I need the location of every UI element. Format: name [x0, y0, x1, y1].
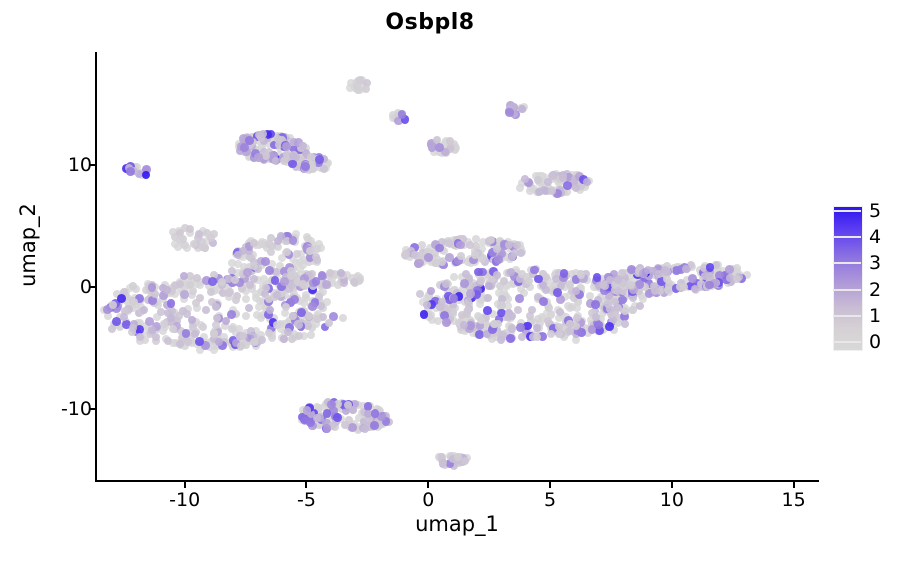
scatter-point: [186, 225, 194, 233]
scatter-point: [534, 275, 543, 284]
scatter-point: [362, 85, 370, 93]
scatter-point: [651, 287, 659, 295]
scatter-point: [313, 414, 321, 422]
scatter-point: [199, 323, 207, 331]
scatter-point: [242, 295, 250, 303]
scatter-point: [323, 409, 332, 418]
scatter-point: [534, 176, 542, 184]
colorbar-tick-mark: [833, 289, 861, 291]
x-tick-mark: [184, 482, 186, 488]
colorbar-gradient: [833, 206, 863, 351]
scatter-point: [733, 275, 741, 283]
scatter-point: [555, 330, 563, 338]
scatter-point: [466, 289, 475, 298]
scatter-point: [477, 277, 485, 285]
scatter-point: [548, 187, 556, 195]
scatter-point: [583, 178, 591, 186]
scatter-point: [282, 303, 290, 311]
scatter-point: [289, 236, 298, 245]
scatter-point: [130, 298, 138, 306]
x-axis-spine: [95, 480, 819, 482]
scatter-point: [207, 288, 215, 296]
scatter-point: [313, 315, 321, 323]
scatter-point: [129, 282, 137, 290]
x-tick-label: 10: [660, 489, 684, 511]
scatter-point: [305, 312, 313, 320]
scatter-point: [614, 287, 622, 295]
scatter-point: [167, 314, 175, 322]
scatter-point: [273, 321, 281, 329]
scatter-point: [411, 251, 419, 259]
x-tick-mark: [427, 482, 429, 488]
scatter-point: [548, 172, 556, 180]
scatter-point: [515, 294, 524, 303]
scatter-point: [460, 279, 469, 288]
scatter-point: [323, 424, 332, 433]
scatter-point: [250, 262, 258, 270]
scatter-point: [237, 342, 245, 350]
scatter-point: [303, 406, 312, 415]
scatter-point: [196, 294, 204, 302]
scatter-point: [483, 306, 492, 315]
colorbar-tick-mark: [833, 210, 861, 212]
scatter-point: [663, 268, 671, 276]
scatter-point: [117, 294, 126, 303]
scatter-point: [442, 318, 451, 327]
scatter-point: [518, 333, 526, 341]
x-tick-mark: [671, 482, 673, 488]
scatter-point: [591, 300, 600, 309]
colorbar-tick-label: 1: [869, 305, 881, 327]
y-tick-label: -10: [61, 398, 92, 420]
colorbar-tick-mark: [833, 341, 861, 343]
scatter-point: [282, 142, 291, 151]
scatter-point: [176, 340, 184, 348]
x-tick-mark: [549, 482, 551, 488]
scatter-point: [280, 335, 288, 343]
scatter-point: [243, 268, 252, 277]
scatter-point: [706, 263, 715, 272]
x-tick-label: 15: [782, 489, 806, 511]
scatter-point: [299, 142, 307, 150]
scatter-point: [300, 299, 308, 307]
scatter-point: [639, 269, 648, 278]
scatter-point: [457, 252, 465, 260]
scatter-point: [247, 327, 255, 335]
scatter-point: [664, 286, 672, 294]
scatter-point: [445, 239, 453, 247]
x-tick-label: -10: [169, 489, 200, 511]
scatter-point: [725, 265, 734, 274]
scatter-point: [265, 295, 273, 303]
scatter-point: [267, 248, 275, 256]
scatter-point: [663, 275, 671, 283]
scatter-point: [435, 143, 444, 152]
scatter-point: [208, 277, 217, 286]
scatter-point: [195, 337, 204, 346]
scatter-point: [339, 314, 347, 322]
scatter-point: [416, 290, 424, 298]
scatter-point: [572, 287, 580, 295]
scatter-point: [288, 335, 296, 343]
scatter-point: [140, 306, 148, 314]
scatter-point: [265, 240, 273, 248]
scatter-point: [333, 413, 342, 422]
scatter-point: [250, 275, 258, 283]
scatter-point: [471, 251, 479, 259]
scatter-point: [705, 281, 714, 290]
x-tick-label: -5: [297, 489, 316, 511]
scatter-point: [245, 136, 254, 145]
scatter-point: [484, 294, 492, 302]
colorbar-tick-mark: [833, 262, 861, 264]
scatter-point: [563, 181, 572, 190]
scatter-point: [424, 253, 433, 262]
scatter-point: [142, 171, 151, 180]
scatter-point: [215, 338, 223, 346]
scatter-point: [370, 421, 379, 430]
scatter-point: [553, 288, 562, 297]
x-tick-mark: [793, 482, 795, 488]
scatter-point: [506, 334, 515, 343]
scatter-point: [325, 319, 333, 327]
scatter-point: [544, 317, 552, 325]
scatter-point: [191, 330, 199, 338]
scatter-point: [456, 241, 465, 250]
scatter-plot-area[interactable]: [97, 52, 818, 480]
scatter-point: [262, 284, 270, 292]
scatter-point: [508, 324, 516, 332]
scatter-point: [398, 110, 407, 119]
scatter-point: [464, 306, 472, 314]
scatter-point: [599, 281, 607, 289]
scatter-point: [605, 322, 614, 331]
scatter-point: [530, 266, 539, 275]
scatter-point: [517, 249, 525, 257]
scatter-point: [308, 302, 317, 311]
scatter-point: [618, 296, 627, 305]
scatter-point: [234, 251, 242, 259]
scatter-point: [261, 257, 270, 266]
scatter-point: [350, 278, 358, 286]
scatter-point: [341, 421, 349, 429]
scatter-point: [239, 332, 247, 340]
scatter-point: [164, 337, 172, 345]
scatter-point: [313, 245, 321, 253]
scatter-point: [152, 333, 160, 341]
scatter-point: [508, 312, 516, 320]
scatter-point: [195, 230, 203, 238]
scatter-point: [212, 321, 220, 329]
scatter-point: [559, 174, 567, 182]
scatter-point: [516, 323, 525, 332]
colorbar-tick-mark: [833, 315, 861, 317]
scatter-point: [280, 277, 289, 286]
scatter-point: [528, 306, 536, 314]
scatter-point: [272, 157, 280, 165]
scatter-point: [427, 287, 436, 296]
scatter-point: [108, 325, 116, 333]
scatter-point: [109, 301, 117, 309]
scatter-point: [273, 291, 281, 299]
scatter-point: [266, 306, 274, 314]
scatter-point: [176, 236, 184, 244]
scatter-point: [189, 287, 197, 295]
scatter-point: [508, 253, 516, 261]
scatter-point: [445, 253, 454, 262]
scatter-point: [636, 302, 644, 310]
scatter-point: [361, 425, 369, 433]
x-tick-mark: [305, 482, 307, 488]
x-tick-label: 0: [422, 489, 434, 511]
scatter-point: [539, 297, 548, 306]
y-tick-label: 0: [80, 276, 92, 298]
colorbar-tick-label: 5: [869, 200, 881, 222]
colorbar-tick-label: 4: [869, 226, 881, 248]
scatter-point: [198, 243, 206, 251]
scatter-point: [315, 155, 324, 164]
scatter-point: [288, 160, 297, 169]
scatter-point: [250, 338, 258, 346]
page-title: Osbpl8: [0, 10, 860, 35]
scatter-point: [497, 336, 505, 344]
scatter-point: [242, 312, 250, 320]
scatter-point: [232, 296, 240, 304]
scatter-point: [454, 453, 462, 461]
scatter-point: [245, 304, 253, 312]
scatter-point: [547, 330, 555, 338]
scatter-point: [290, 295, 299, 304]
scatter-point: [126, 167, 135, 176]
scatter-point: [284, 328, 292, 336]
scatter-point: [432, 259, 440, 267]
scatter-point: [494, 255, 503, 264]
scatter-point: [213, 314, 221, 322]
scatter-point: [307, 331, 315, 339]
scatter-point: [621, 320, 629, 328]
scatter-point: [423, 301, 431, 309]
scatter-point: [442, 280, 450, 288]
colorbar-tick-label: 2: [869, 279, 881, 301]
scatter-point: [327, 400, 336, 409]
scatter-point: [226, 288, 234, 296]
scatter-point: [212, 303, 220, 311]
scatter-point: [493, 245, 501, 253]
scatter-point: [415, 259, 424, 268]
x-tick-label: 5: [544, 489, 556, 511]
colorbar-tick-label: 0: [869, 331, 881, 353]
y-axis-label: umap_2: [16, 155, 40, 335]
colorbar-tick-mark: [833, 236, 861, 238]
scatter-point: [676, 283, 684, 291]
umap-feature-plot: Osbpl8 -10-5051015 100-10 umap_1 umap_2 …: [0, 0, 911, 562]
scatter-point: [188, 316, 196, 324]
scatter-point: [283, 248, 291, 256]
scatter-point: [163, 286, 171, 294]
scatter-point: [307, 153, 315, 161]
scatter-point: [255, 303, 263, 311]
colorbar-tick-label: 3: [869, 252, 881, 274]
scatter-point: [493, 271, 501, 279]
scatter-point: [312, 253, 320, 261]
scatter-point: [337, 269, 345, 277]
scatter-point: [222, 317, 230, 325]
y-tick-label: 10: [68, 154, 92, 176]
scatter-point: [169, 325, 177, 333]
scatter-point: [160, 320, 168, 328]
scatter-point: [461, 457, 469, 465]
y-axis-spine: [95, 52, 97, 482]
x-axis-label: umap_1: [95, 512, 819, 536]
scatter-point: [464, 298, 472, 306]
scatter-point: [202, 306, 210, 314]
